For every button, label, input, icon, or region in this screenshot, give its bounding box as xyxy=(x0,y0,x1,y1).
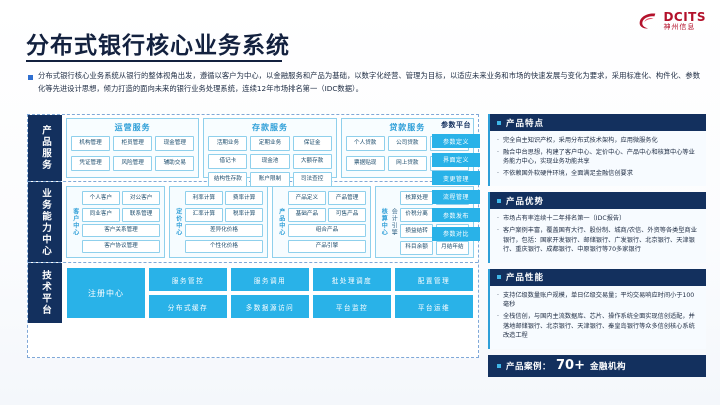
info-bullet-text: 不依赖国外软硬件环境，全面满足金融信创要求 xyxy=(503,169,633,179)
info-card-header: 产品特点 xyxy=(490,114,706,131)
service-chip[interactable]: 借记卡 xyxy=(208,154,247,169)
info-card-header: 产品优势 xyxy=(490,192,706,209)
info-bullet: ·客户案例丰富，覆盖国有大行、股份制、城商/农信、外资等各类型商业银行，包括：国… xyxy=(497,226,699,255)
service-chip[interactable]: 凭证管理 xyxy=(71,156,110,171)
service-chip[interactable]: 风险管理 xyxy=(113,156,152,171)
tech-chip[interactable]: 服务调用 xyxy=(231,268,309,291)
center-chip[interactable]: 产品管理 xyxy=(328,191,366,205)
service-chip[interactable]: 定期业务 xyxy=(250,136,289,151)
service-chip[interactable]: 保证金 xyxy=(293,136,332,151)
center-label: 核算中心 xyxy=(378,189,388,255)
param-button[interactable]: 参数发布 xyxy=(432,208,480,222)
tech-chip[interactable]: 服务管控 xyxy=(149,268,227,291)
dcits-swirl-icon xyxy=(637,10,659,32)
service-group-title: 运营服务 xyxy=(67,122,198,133)
info-bullet-text: 市场占有率连续十二年排名第一（IDC报告） xyxy=(503,214,625,224)
bullet-square-icon xyxy=(497,364,501,368)
service-group-deposit: 存款服务 活期业务 定期业务 保证金 借记卡 现金池 大额存款 结构性存款 账户… xyxy=(203,118,336,178)
center-chip-wide[interactable]: 客户协议管理 xyxy=(82,240,160,253)
service-chip[interactable]: 票据贴现 xyxy=(346,156,385,171)
service-chip[interactable]: 网上贷款 xyxy=(388,156,427,171)
center-label: 产品中心 xyxy=(275,189,286,255)
info-card-performance: 产品性能 ·支持亿级数量账户规模，单日亿级交易量；平均交易响应时间小于100毫秒… xyxy=(488,269,706,349)
info-bullet: ·支持亿级数量账户规模，单日亿级交易量；平均交易响应时间小于100毫秒 xyxy=(497,291,699,310)
case-number: 70+ xyxy=(556,358,585,373)
info-bullet-text: 融合中台思想，构建了客户中心、定价中心、产品中心和核算中心等业务能力中心，实现业… xyxy=(503,148,699,167)
bullet-square-icon xyxy=(497,275,501,279)
dot-icon: · xyxy=(497,312,500,341)
service-chip[interactable]: 现金池 xyxy=(250,154,289,169)
info-card-title: 产品性能 xyxy=(506,271,544,283)
info-card-title: 产品特点 xyxy=(506,117,544,129)
dot-icon: · xyxy=(497,169,500,179)
center-chip[interactable]: 对公客户 xyxy=(122,191,160,205)
band-label-tech-platform: 技术平台 xyxy=(28,263,62,323)
info-bullet: ·不依赖国外软硬件环境，全面满足金融信创要求 xyxy=(497,169,699,179)
param-platform-title: 参数平台 xyxy=(432,120,480,130)
center-chip-wide[interactable]: 组合产品 xyxy=(288,224,366,237)
slide-root: DCITS 神州信息 分布式银行核心业务系统 分布式银行核心业务系统从银行的整体… xyxy=(0,0,720,405)
center-chip[interactable]: 个人客户 xyxy=(82,191,120,205)
architecture-diagram: 产品服务 运营服务 机构管理 柜员管理 现金管理 凭证管理 风险管理 辅助交易 … xyxy=(27,114,479,358)
bullet-square-icon xyxy=(497,199,501,203)
param-button[interactable]: 界面定义 xyxy=(432,153,480,167)
lead-text: 分布式银行核心业务系统从银行的整体视角出发，遵循以客户为中心，以金融服务和产品为… xyxy=(38,70,700,96)
logo-cn: 神州信息 xyxy=(663,24,706,31)
service-chip[interactable]: 个人贷款 xyxy=(346,136,385,151)
dot-icon: · xyxy=(497,226,500,255)
bullet-square-icon xyxy=(497,121,501,125)
center-chip[interactable]: 基础产品 xyxy=(288,208,326,222)
service-chip[interactable]: 公司贷款 xyxy=(388,136,427,151)
info-bullet-text: 完全自主知识产权，采用分布式技术架构，应用微服务化 xyxy=(503,136,658,146)
info-bullet-text: 客户案例丰富，覆盖国有大行、股份制、城商/农信、外资等各类型商业银行，包括：国家… xyxy=(503,226,699,255)
center-chip[interactable]: 价税分离 xyxy=(400,208,433,222)
tech-platform-row: 技术平台 注册中心 服务管控 服务调用 批处理调度 配置管理 分布式缓存 多数据… xyxy=(28,262,478,323)
service-chip[interactable]: 辅助交易 xyxy=(155,156,194,171)
brand-logo: DCITS 神州信息 xyxy=(637,10,706,32)
band-label-product-services: 产品服务 xyxy=(28,115,62,181)
service-group-operations: 运营服务 机构管理 柜员管理 现金管理 凭证管理 风险管理 辅助交易 xyxy=(66,118,199,178)
center-chip[interactable]: 税率计算 xyxy=(225,208,263,222)
dot-icon: · xyxy=(497,214,500,224)
info-bullet: ·完全自主知识产权，采用分布式技术架构，应用微服务化 xyxy=(497,136,699,146)
tech-chip[interactable]: 平台监控 xyxy=(313,295,391,318)
tech-registry-center[interactable]: 注册中心 xyxy=(67,268,145,318)
center-chip-wide[interactable]: 产品引擎 xyxy=(288,240,366,253)
info-card-advantages: 产品优势 ·市场占有率连续十二年排名第一（IDC报告） ·客户案例丰富，覆盖国有… xyxy=(488,192,706,262)
service-group-title: 存款服务 xyxy=(204,122,335,133)
logo-en: DCITS xyxy=(663,11,706,23)
lead-paragraph: 分布式银行核心业务系统从银行的整体视角出发，遵循以客户为中心，以金融服务和产品为… xyxy=(28,70,700,96)
center-chip[interactable]: 可售产品 xyxy=(328,208,366,222)
param-button[interactable]: 参数对比 xyxy=(432,227,480,241)
center-product: 产品中心 产品定义 产品管理 基础产品 可售产品 组合产品 产品引擎 xyxy=(272,186,371,258)
dot-icon: · xyxy=(497,291,500,310)
param-button[interactable]: 参数定义 xyxy=(432,134,480,148)
service-chip[interactable]: 大额存款 xyxy=(293,154,332,169)
center-chip[interactable]: 利率计算 xyxy=(185,191,223,205)
case-label: 产品案例： xyxy=(506,360,551,372)
center-chip[interactable]: 费率计算 xyxy=(225,191,263,205)
center-chip-wide[interactable]: 个性化价格 xyxy=(185,240,263,253)
case-banner: 产品案例： 70+ 金融机构 xyxy=(488,355,706,377)
info-bullet: ·市场占有率连续十二年排名第一（IDC报告） xyxy=(497,214,699,224)
case-suffix: 金融机构 xyxy=(590,360,626,372)
bullet-square-icon xyxy=(28,75,33,80)
center-chip[interactable]: 损益结转 xyxy=(400,224,433,238)
param-platform: 参数平台 参数定义 界面定义 变更管理 流程管理 参数发布 参数对比 xyxy=(432,120,480,245)
capability-centers-row: 业务能力中心 客户中心 个人客户 对公客户 同业客户 联系管理 客户关系管理 客… xyxy=(28,181,478,262)
center-customer: 客户中心 个人客户 对公客户 同业客户 联系管理 客户关系管理 客户协议管理 xyxy=(66,186,165,258)
info-bullet-text: 支持亿级数量账户规模，单日亿级交易量；平均交易响应时间小于100毫秒 xyxy=(503,291,699,310)
center-chip-wide[interactable]: 差异化价格 xyxy=(185,224,263,237)
service-chip[interactable]: 现金管理 xyxy=(155,136,194,151)
info-bullet-text: 全栈信创，与国内主流数据库、芯片、操作系统全面实现信创适配，并落地邮储银行、北京… xyxy=(503,312,699,341)
info-bullet: ·全栈信创，与国内主流数据库、芯片、操作系统全面实现信创适配，并落地邮储银行、北… xyxy=(497,312,699,341)
tech-chip[interactable]: 配置管理 xyxy=(395,268,473,291)
center-chip[interactable]: 汇率计算 xyxy=(185,208,223,222)
tech-chip[interactable]: 批处理调度 xyxy=(313,268,391,291)
center-label: 客户中心 xyxy=(69,189,80,255)
center-pricing: 定价中心 利率计算 费率计算 汇率计算 税率计算 差异化价格 个性化价格 xyxy=(169,186,268,258)
info-bullet: ·融合中台思想，构建了客户中心、定价中心、产品中心和核算中心等业务能力中心，实现… xyxy=(497,148,699,167)
center-chip[interactable]: 科目余额 xyxy=(400,241,433,255)
center-chip[interactable]: 同业客户 xyxy=(82,208,120,222)
title-underline xyxy=(26,60,282,62)
info-panel: 产品特点 ·完全自主知识产权，采用分布式技术架构，应用微服务化 ·融合中台思想，… xyxy=(488,114,706,377)
center-chip[interactable]: 核算处理 xyxy=(400,191,433,205)
service-chip[interactable]: 柜员管理 xyxy=(113,136,152,151)
param-button[interactable]: 流程管理 xyxy=(432,190,480,204)
center-label: 定价中心 xyxy=(172,189,183,255)
tech-chip[interactable]: 分布式缓存 xyxy=(149,295,227,318)
service-chip[interactable]: 机构管理 xyxy=(71,136,110,151)
info-card-header: 产品性能 xyxy=(490,269,706,286)
tech-chip[interactable]: 多数据源访问 xyxy=(231,295,309,318)
info-card-features: 产品特点 ·完全自主知识产权，采用分布式技术架构，应用微服务化 ·融合中台思想，… xyxy=(488,114,706,186)
dot-icon: · xyxy=(497,136,500,146)
center-chip-wide[interactable]: 客户关系管理 xyxy=(82,224,160,237)
product-services-row: 产品服务 运营服务 机构管理 柜员管理 现金管理 凭证管理 风险管理 辅助交易 … xyxy=(28,115,478,181)
page-title: 分布式银行核心业务系统 xyxy=(26,26,290,60)
dot-icon: · xyxy=(497,148,500,167)
center-chip[interactable]: 产品定义 xyxy=(288,191,326,205)
band-label-capability-center: 业务能力中心 xyxy=(28,182,62,262)
tech-chip[interactable]: 平台运维 xyxy=(395,295,473,318)
param-button[interactable]: 变更管理 xyxy=(432,171,480,185)
service-chip[interactable]: 活期业务 xyxy=(208,136,247,151)
center-chip[interactable]: 联系管理 xyxy=(122,208,160,222)
center-sublabel-engine: 会计引擎 xyxy=(388,189,398,255)
info-card-title: 产品优势 xyxy=(506,195,544,207)
